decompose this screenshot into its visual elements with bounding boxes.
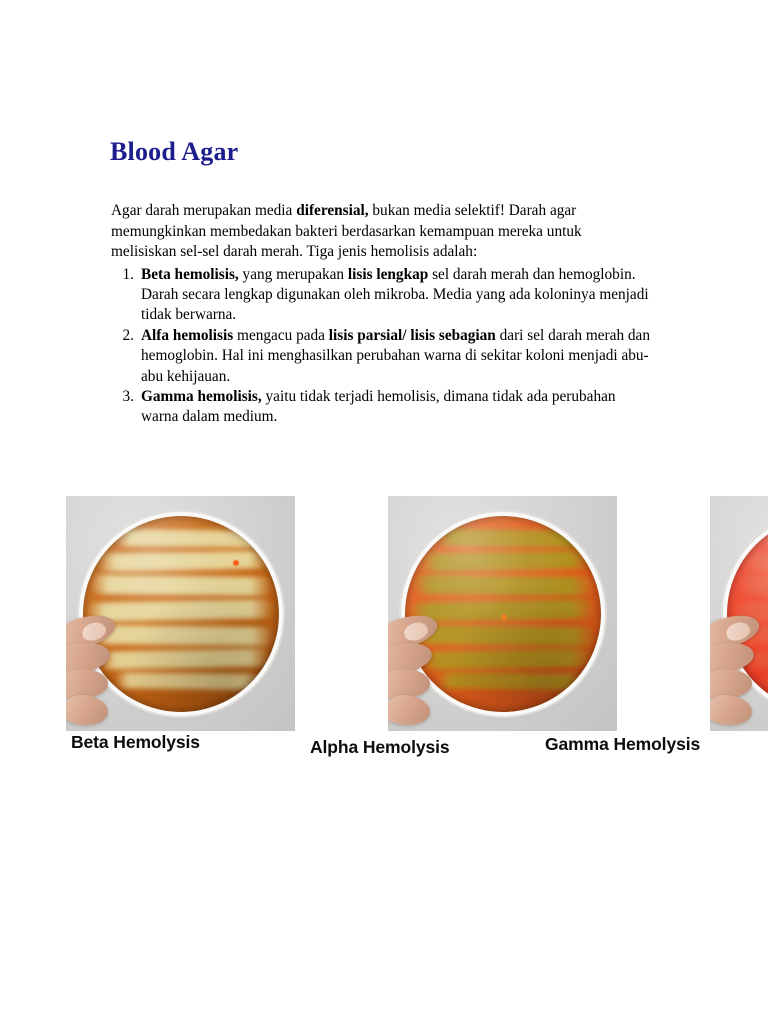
- list-item: 2.Alfa hemolisis mengacu pada lisis pars…: [111, 326, 656, 387]
- figure-beta-hemolysis: [66, 496, 295, 731]
- finger: [66, 694, 109, 726]
- petri-dish-photo-beta: [66, 496, 295, 731]
- list-item: 1.Beta hemolisis, yang merupakan lisis l…: [111, 265, 656, 326]
- caption-beta-hemolysis: Beta Hemolysis: [71, 732, 200, 753]
- figure-alpha-hemolysis: [388, 496, 617, 731]
- hemolysis-types-list: 1.Beta hemolisis, yang merupakan lisis l…: [111, 265, 656, 428]
- list-item-mid: yang merupakan: [239, 266, 348, 283]
- petri-dish-photo-alpha: [388, 496, 617, 731]
- list-item-bold: lisis parsial/ lisis sebagian: [329, 327, 496, 344]
- list-item-bold: lisis lengkap: [348, 266, 428, 283]
- finger: [710, 694, 753, 726]
- finger: [388, 694, 431, 726]
- list-item-number: 3.: [116, 387, 134, 407]
- page-title: Blood Agar: [110, 138, 238, 165]
- document-page: Blood Agar Agar darah merupakan media di…: [0, 0, 768, 1024]
- intro-bold-diferensial: diferensial,: [296, 202, 368, 219]
- list-item-mid: mengacu pada: [233, 327, 329, 344]
- hand-holding-dish-beta: [66, 607, 156, 731]
- list-item-number: 1.: [116, 265, 134, 285]
- petri-dish-photo-gamma: [710, 496, 768, 731]
- hand-holding-dish-alpha: [388, 607, 478, 731]
- hand-holding-dish-gamma: [710, 607, 768, 731]
- caption-alpha-hemolysis: Alpha Hemolysis: [310, 737, 450, 758]
- figure-gamma-hemolysis: [710, 496, 768, 731]
- list-item: 3.Gamma hemolisis, yaitu tidak terjadi h…: [111, 387, 656, 427]
- list-item-lead: Gamma hemolisis,: [141, 388, 262, 405]
- intro-paragraph: Agar darah merupakan media diferensial, …: [111, 201, 641, 262]
- list-item-lead: Alfa hemolisis: [141, 327, 233, 344]
- caption-gamma-hemolysis: Gamma Hemolysis: [545, 734, 700, 755]
- list-item-lead: Beta hemolisis,: [141, 266, 239, 283]
- list-item-number: 2.: [116, 326, 134, 346]
- petri-dish-figure-row: [26, 480, 742, 715]
- intro-text-part1: Agar darah merupakan media: [111, 202, 296, 219]
